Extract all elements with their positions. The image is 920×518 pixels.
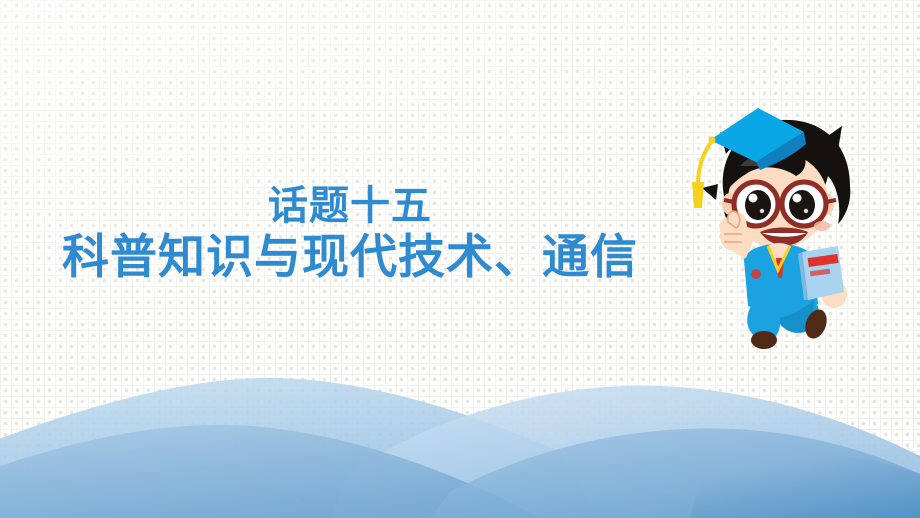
presentation-slide: 话题十五 科普知识与现代技术、通信 — [0, 0, 920, 518]
uniform-emblem — [751, 269, 761, 279]
slide-title: 话题十五 科普知识与现代技术、通信 — [0, 186, 700, 281]
eye-left — [745, 190, 771, 220]
glasses-temple-left — [724, 200, 734, 202]
student-boy-mascot-icon — [672, 92, 872, 354]
eye-glint-left — [760, 209, 764, 213]
cap-button — [709, 137, 716, 144]
eye-highlight-left — [749, 194, 758, 203]
blush-right — [814, 221, 830, 231]
hair-spike-sideburn — [702, 184, 718, 200]
shoe-left — [751, 331, 777, 349]
title-line-topic-name: 科普知识与现代技术、通信 — [0, 233, 700, 282]
cap-tassel-cord — [698, 141, 712, 184]
eye-glint-right — [804, 209, 808, 213]
title-line-topic-number: 话题十五 — [0, 186, 700, 228]
glasses-temple-right — [826, 200, 836, 202]
decorative-waves — [0, 368, 920, 518]
eye-highlight-right — [793, 194, 802, 203]
cap-tassel — [692, 182, 704, 208]
eye-right — [789, 190, 815, 220]
book-icon — [798, 246, 844, 300]
